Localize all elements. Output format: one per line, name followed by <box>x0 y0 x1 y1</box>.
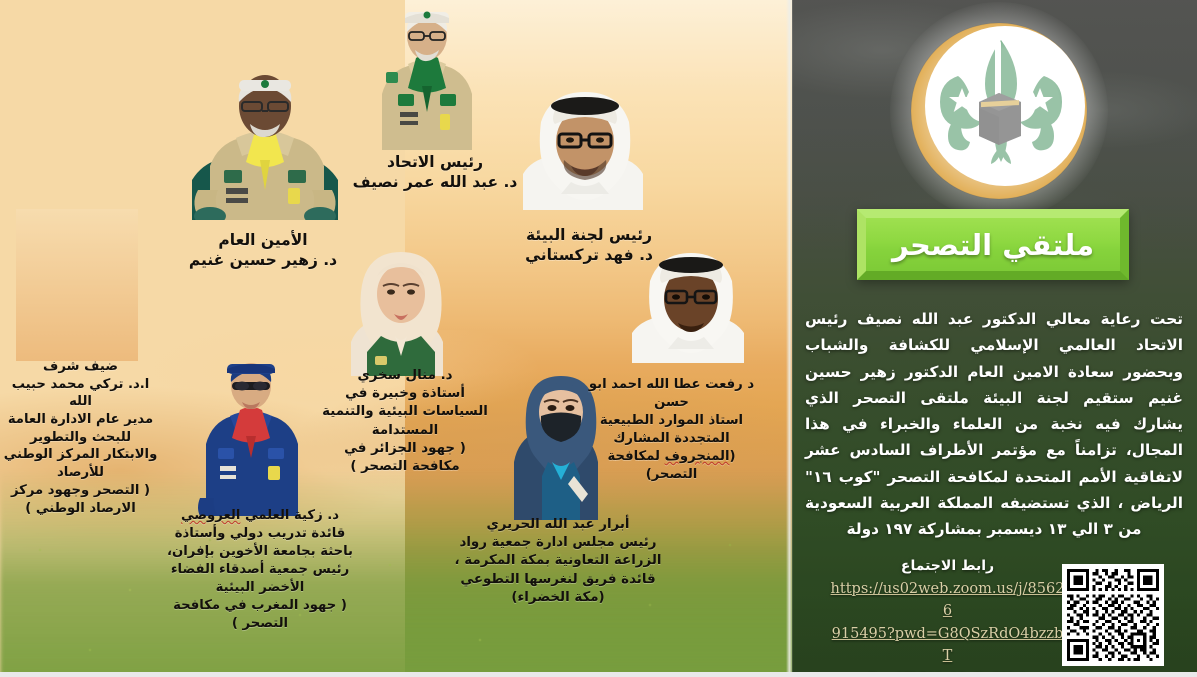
guest-role: مدير عام الادارة العامة للبحث والتطوير و… <box>2 411 159 482</box>
photo-guest-of-honor <box>16 209 138 361</box>
guest-topic: ( التصحر وجهود مركز الارصاد الوطني ) <box>2 482 159 517</box>
qr-code-icon <box>1067 569 1159 661</box>
qr-code[interactable] <box>1062 564 1164 666</box>
manal-topic: ( جهود الجزائر في مكافحة التصحر ) <box>320 440 490 476</box>
zakia-name: د. زكية العلمي العروصي <box>160 507 360 525</box>
poster-title-plaque: ملتقي التصحر <box>857 209 1129 280</box>
photo-union-president <box>372 2 482 150</box>
caption-zakia-alami-arousi: د. زكية العلمي العروصي قائدة تدريب دولي … <box>160 507 360 633</box>
photo-zakia-alami-arousi <box>196 348 306 516</box>
photo-scout-leader-seated <box>180 62 350 220</box>
meeting-link-label: رابط الاجتماع <box>830 558 1065 574</box>
rifaat-role: استاذ الموارد الطبيعية المتجددة المشارك <box>585 412 758 448</box>
president-title: رئيس الاتحاد <box>340 152 530 172</box>
guest-name: ا.د. تركي محمد حبيب الله <box>2 376 159 411</box>
caption-guest-of-honor: ضيف شرف ا.د. تركي محمد حبيب الله مدير عا… <box>2 358 159 517</box>
poster-title: ملتقي التصحر <box>892 228 1094 262</box>
manal-role: أستاذة وخبيرة في السياسات البيئية والتنم… <box>320 385 490 440</box>
desertification-forum-poster: رئيس الاتحاد د. عبد الله عمر نصيف الأمين… <box>0 0 1197 677</box>
meeting-url-line-2[interactable]: 915495?pwd=G8QSzRdO4bzzbT <box>830 623 1065 668</box>
meeting-url-line-1[interactable]: https://us02web.zoom.us/j/85626 <box>830 578 1065 623</box>
env-chair-title: رئيس لجنة البيئة <box>500 225 678 245</box>
env-chair-name: د. فهد تركستاني <box>500 245 678 265</box>
abrar-role: رئيس مجلس ادارة جمعية رواد الزراعة التعا… <box>452 534 664 589</box>
caption-manal-sokhri: د. منال سخري أستاذة وخبيرة في السياسات ا… <box>320 367 490 476</box>
abrar-topic: (مكة الخضراء) <box>452 589 664 607</box>
secretary-general-title: الأمين العام <box>168 230 358 250</box>
caption-environment-committee-chair: رئيس لجنة البيئة د. فهد تركستاني <box>500 225 678 266</box>
bottom-edge-band <box>0 672 1197 677</box>
abrar-name: أبرار عبد الله الحريري <box>452 516 664 534</box>
guest-title: ضيف شرف <box>2 358 159 376</box>
caption-union-president: رئيس الاتحاد د. عبد الله عمر نصيف <box>340 152 530 193</box>
panel-divider <box>786 0 793 677</box>
rifaat-topic-underlined: المنجروف <box>665 449 730 464</box>
caption-secretary-general: الأمين العام د. زهير حسين غنيم <box>168 230 358 271</box>
caption-abrar-alharbi: أبرار عبد الله الحريري رئيس مجلس ادارة ج… <box>452 516 664 607</box>
rifaat-topic: (المنجروف لمكافحة التصحر) <box>585 448 758 484</box>
rifaat-name: د رفعت عطا الله احمد ابو حسن <box>585 376 758 412</box>
caption-rifaat-abuhassan: د رفعت عطا الله احمد ابو حسن استاذ الموا… <box>585 376 758 484</box>
grass-texture <box>0 520 792 677</box>
zakia-topic: ( جهود المغرب في مكافحة التصحر ) <box>160 597 360 633</box>
photo-environment-committee-chair <box>519 78 651 210</box>
photo-manal-sokhri <box>345 236 457 376</box>
rifaat-topic-prefix: ( <box>730 449 736 464</box>
scout-emblem-icon <box>906 18 1092 204</box>
meeting-link-block: رابط الاجتماع https://us02web.zoom.us/j/… <box>830 558 1065 677</box>
zakia-name-prefix: د. زكية العلمي <box>245 508 339 523</box>
poster-body-text: تحت رعاية معالي الدكتور عبد الله نصيف رئ… <box>805 306 1183 543</box>
president-name: د. عبد الله عمر نصيف <box>340 172 530 192</box>
zakia-role: قائدة تدريب دولي وأستاذة باحثة بجامعة ال… <box>160 525 360 597</box>
manal-name: د. منال سخري <box>320 367 490 385</box>
secretary-general-name: د. زهير حسين غنيم <box>168 250 358 270</box>
zakia-name-underlined: العروصي <box>181 508 240 523</box>
